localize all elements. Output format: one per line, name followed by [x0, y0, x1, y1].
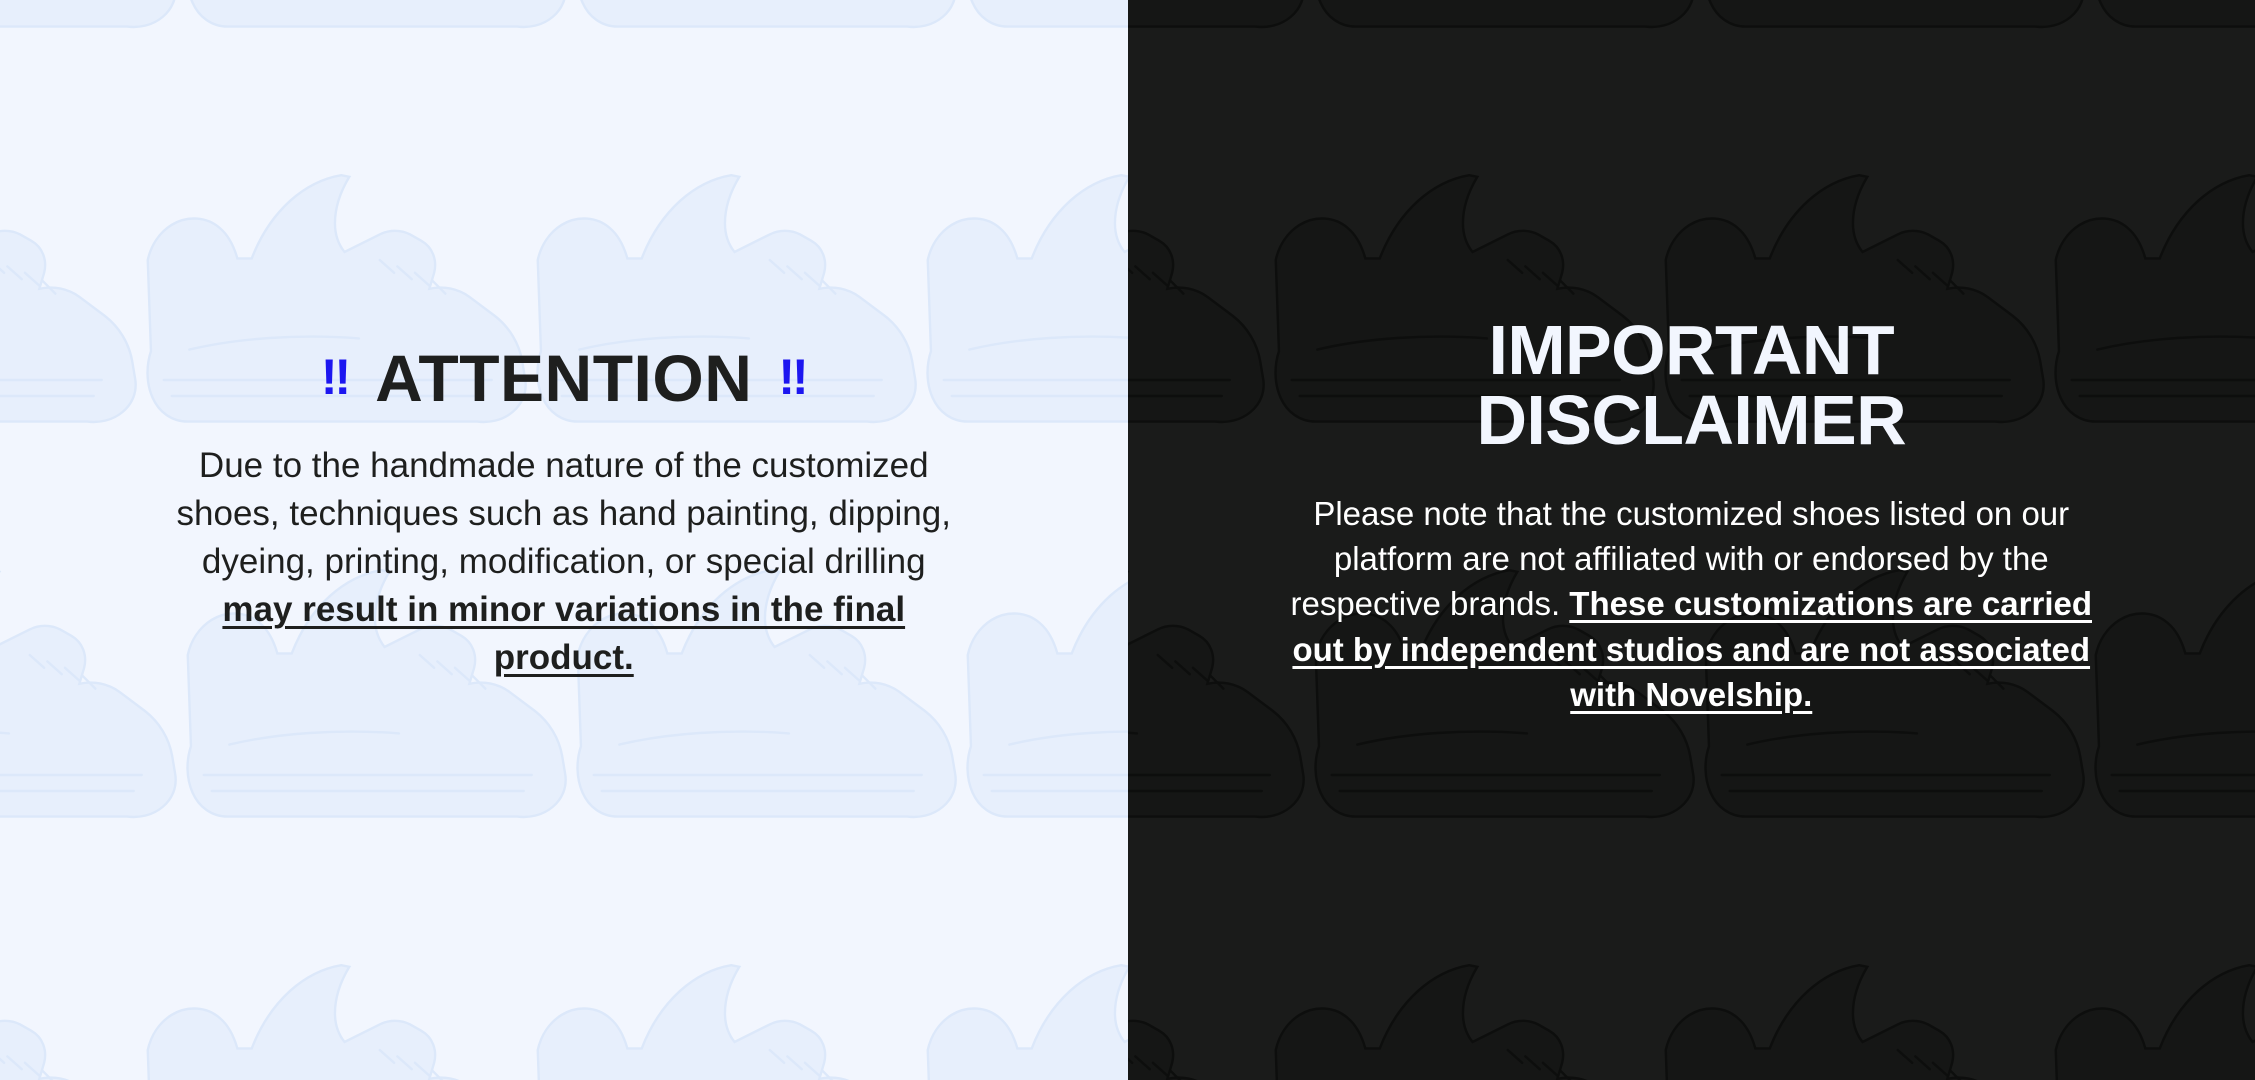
disclaimer-banner: ‼ ATTENTION ‼ Due to the handmade nature…: [0, 0, 2255, 1080]
disclaimer-heading-line1: IMPORTANT: [1489, 311, 1894, 389]
disclaimer-panel: IMPORTANT DISCLAIMER Please note that th…: [1128, 0, 2255, 1080]
attention-body-normal: Due to the handmade nature of the custom…: [177, 446, 951, 581]
disclaimer-heading: IMPORTANT DISCLAIMER: [1476, 315, 1906, 455]
disclaimer-content: IMPORTANT DISCLAIMER Please note that th…: [1128, 0, 2255, 717]
double-exclamation-left-icon: ‼: [321, 352, 349, 402]
double-exclamation-right-icon: ‼: [778, 352, 806, 402]
attention-panel: ‼ ATTENTION ‼ Due to the handmade nature…: [0, 0, 1128, 1080]
attention-heading: ‼ ATTENTION ‼: [321, 345, 807, 412]
attention-content: ‼ ATTENTION ‼ Due to the handmade nature…: [0, 0, 1128, 682]
attention-body: Due to the handmade nature of the custom…: [169, 442, 959, 682]
disclaimer-body: Please note that the customized shoes li…: [1281, 491, 2101, 717]
disclaimer-heading-line2: DISCLAIMER: [1476, 381, 1906, 459]
attention-body-emphasis: may result in minor variations in the fi…: [222, 590, 905, 677]
attention-heading-text: ATTENTION: [375, 345, 752, 412]
